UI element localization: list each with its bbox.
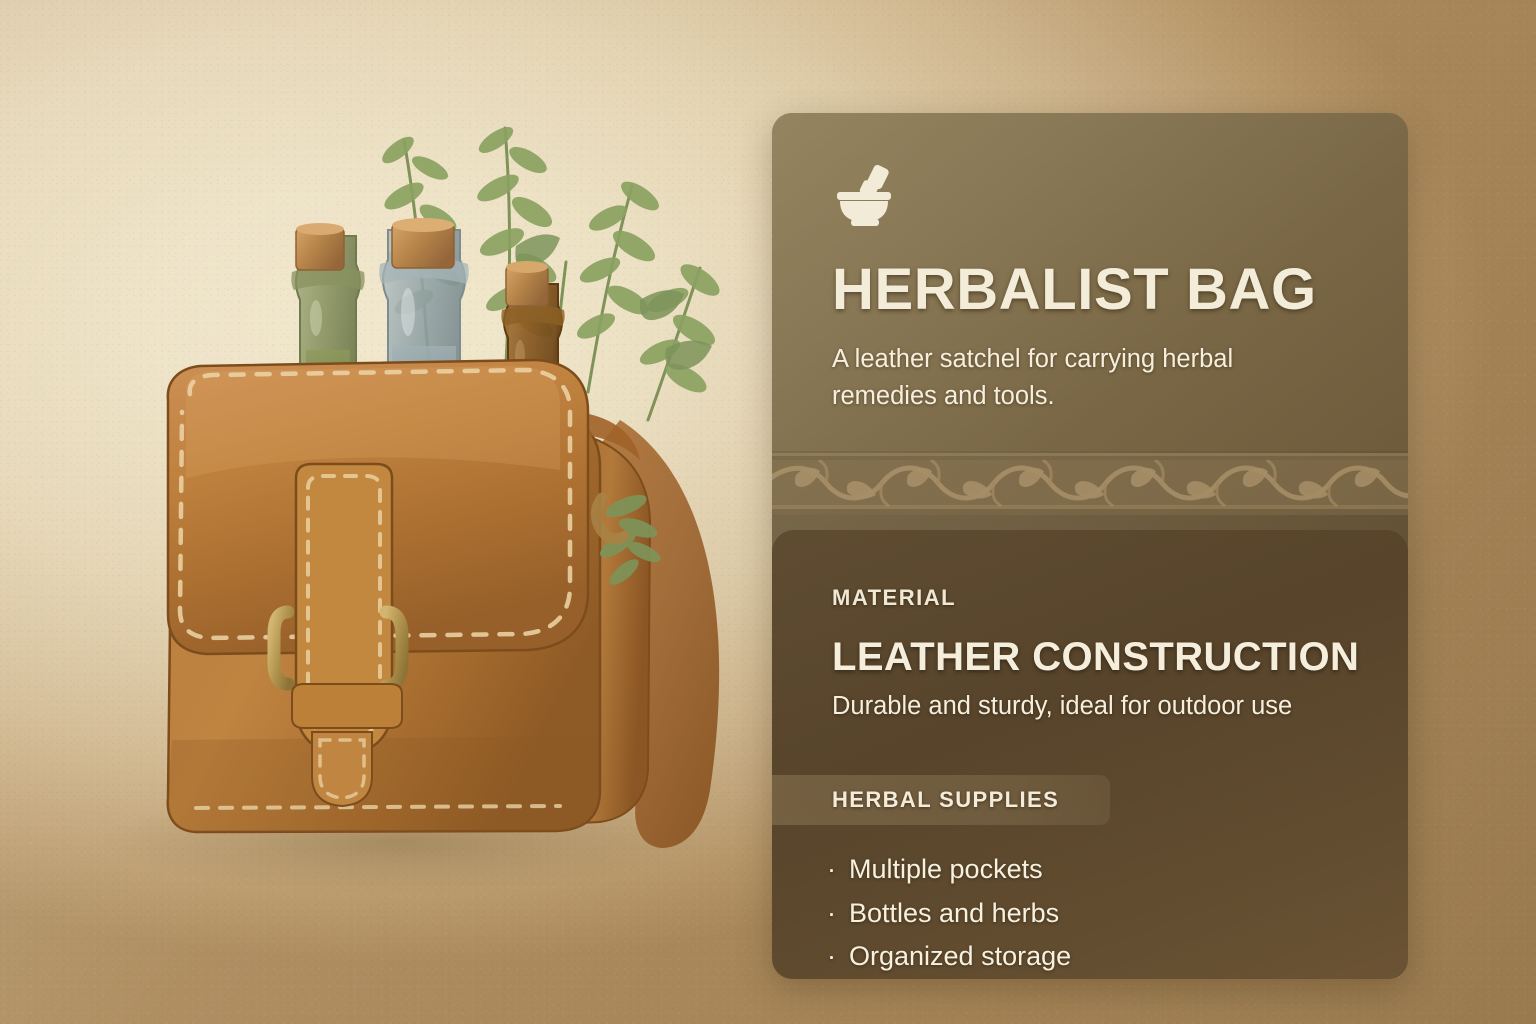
- bullet-icon: ·: [827, 892, 849, 936]
- list-item: ·Multiple pockets: [827, 848, 1071, 892]
- features-badge: HERBAL SUPPLIES: [772, 775, 1110, 825]
- feature-text: Multiple pockets: [849, 854, 1043, 884]
- info-card: HERBALIST BAG A leather satchel for carr…: [772, 113, 1408, 979]
- list-item: ·Bottles and herbs: [827, 892, 1071, 936]
- feature-text: Bottles and herbs: [849, 898, 1059, 928]
- spec-label: MATERIAL: [832, 585, 956, 611]
- spec-description: Durable and sturdy, ideal for outdoor us…: [832, 692, 1292, 721]
- poster-canvas: HERBALIST BAG A leather satchel for carr…: [0, 0, 1536, 1024]
- product-illustration: [0, 0, 790, 1024]
- page-title: HERBALIST BAG: [832, 261, 1317, 319]
- page-subtitle: A leather satchel for carrying herbal re…: [832, 341, 1302, 414]
- card-header: HERBALIST BAG A leather satchel for carr…: [772, 113, 1408, 451]
- leather-satchel: [168, 360, 663, 832]
- bullet-icon: ·: [827, 935, 849, 979]
- features-list: ·Multiple pockets ·Bottles and herbs ·Or…: [827, 848, 1071, 979]
- mortar-and-pestle-icon: [834, 165, 900, 227]
- features-badge-label: HERBAL SUPPLIES: [832, 787, 1059, 813]
- spec-panel: MATERIAL LEATHER CONSTRUCTION Durable an…: [772, 530, 1408, 979]
- ornament-divider: [772, 453, 1408, 515]
- spec-value: LEATHER CONSTRUCTION: [832, 635, 1359, 680]
- feature-text: Organized storage: [849, 941, 1071, 971]
- list-item: ·Organized storage: [827, 935, 1071, 979]
- bullet-icon: ·: [827, 848, 849, 892]
